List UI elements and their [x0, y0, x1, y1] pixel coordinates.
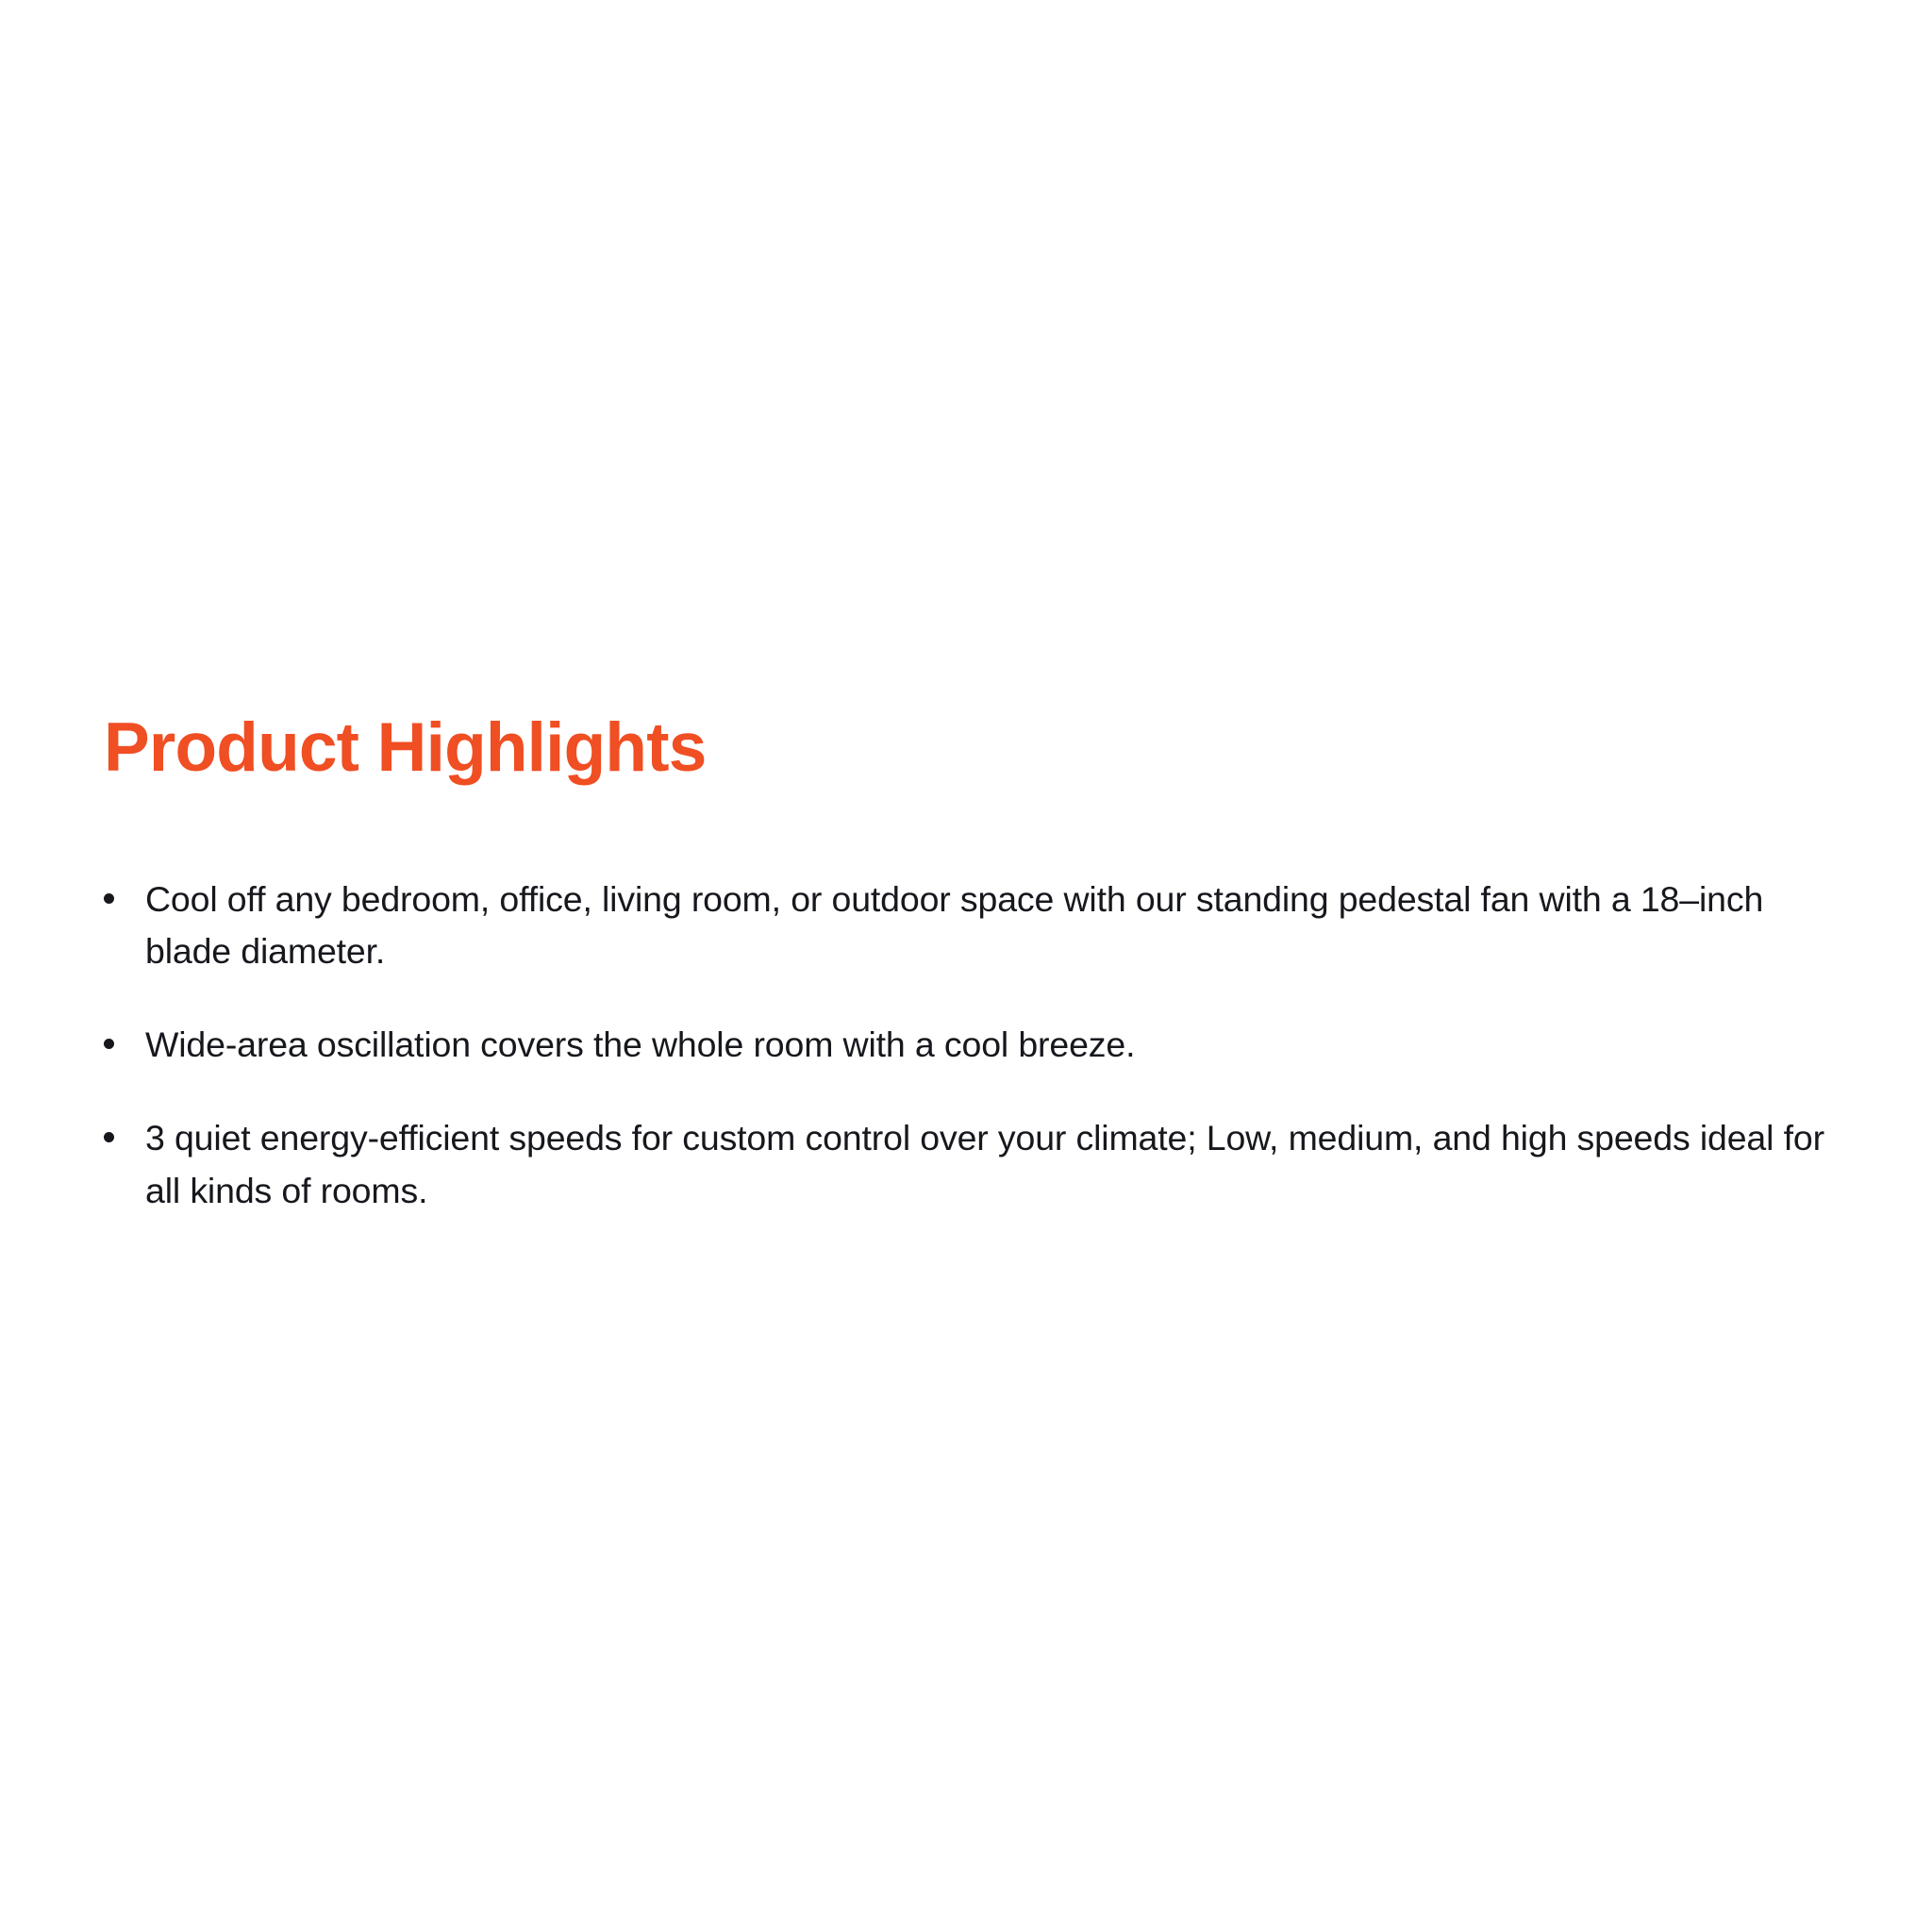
product-highlights-list: Cool off any bedroom, office, living roo… — [104, 874, 1830, 1217]
bullet-dot-icon — [104, 1132, 114, 1142]
list-item: Wide-area oscillation covers the whole r… — [104, 1019, 1830, 1071]
bullet-dot-icon — [104, 1039, 114, 1049]
highlights-content-block: Product Highlights Cool off any bedroom,… — [104, 713, 1830, 1217]
page-title: Product Highlights — [104, 713, 1830, 782]
list-item: Cool off any bedroom, office, living roo… — [104, 874, 1830, 977]
list-item-label: Cool off any bedroom, office, living roo… — [145, 874, 1830, 977]
bullet-dot-icon — [104, 893, 114, 904]
list-item: 3 quiet energy-efficient speeds for cust… — [104, 1112, 1830, 1216]
list-item-label: Wide-area oscillation covers the whole r… — [145, 1019, 1830, 1071]
product-highlights-page: Product Highlights Cool off any bedroom,… — [0, 0, 1932, 1932]
list-item-label: 3 quiet energy-efficient speeds for cust… — [145, 1112, 1830, 1216]
